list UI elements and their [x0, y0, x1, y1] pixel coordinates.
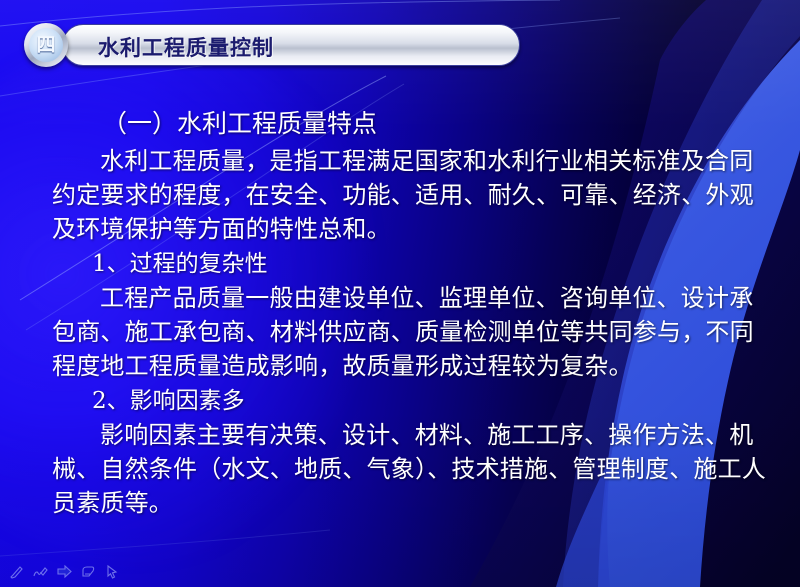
- slide-canvas: 水利工程质量控制 四 （一）水利工程质量特点 水利工程质量，是指工程满足国家和水…: [0, 0, 800, 587]
- list-item-label-1: 1、过程的复杂性: [52, 248, 768, 281]
- ink-toolbar[interactable]: [7, 563, 121, 581]
- arrow-pointer-icon[interactable]: [55, 563, 73, 581]
- section-number-badge: 四: [24, 23, 68, 67]
- list-item-label-2: 2、影响因素多: [52, 385, 768, 418]
- slide-title-bar: 水利工程质量控制 四: [24, 23, 520, 68]
- slide-body: （一）水利工程质量特点 水利工程质量，是指工程满足国家和水利行业相关标准及合同约…: [52, 108, 768, 522]
- section-number-badge-inner: 四: [29, 28, 63, 62]
- intro-paragraph: 水利工程质量，是指工程满足国家和水利行业相关标准及合同约定要求的程度，在安全、功…: [52, 144, 768, 246]
- list-item-body-1: 工程产品质量一般由建设单位、监理单位、咨询单位、设计承包商、施工承包商、材料供应…: [52, 281, 768, 383]
- highlighter-icon[interactable]: [31, 563, 49, 581]
- section-number-text: 四: [36, 36, 55, 55]
- eraser-icon[interactable]: [79, 563, 97, 581]
- pen-icon[interactable]: [7, 563, 25, 581]
- page-heading: （一）水利工程质量特点: [52, 108, 768, 140]
- section-title: 水利工程质量控制: [98, 32, 274, 62]
- cursor-pointer-icon[interactable]: [103, 563, 121, 581]
- list-item-body-2: 影响因素主要有决策、设计、材料、施工工序、操作方法、机械、自然条件（水文、地质、…: [52, 418, 768, 520]
